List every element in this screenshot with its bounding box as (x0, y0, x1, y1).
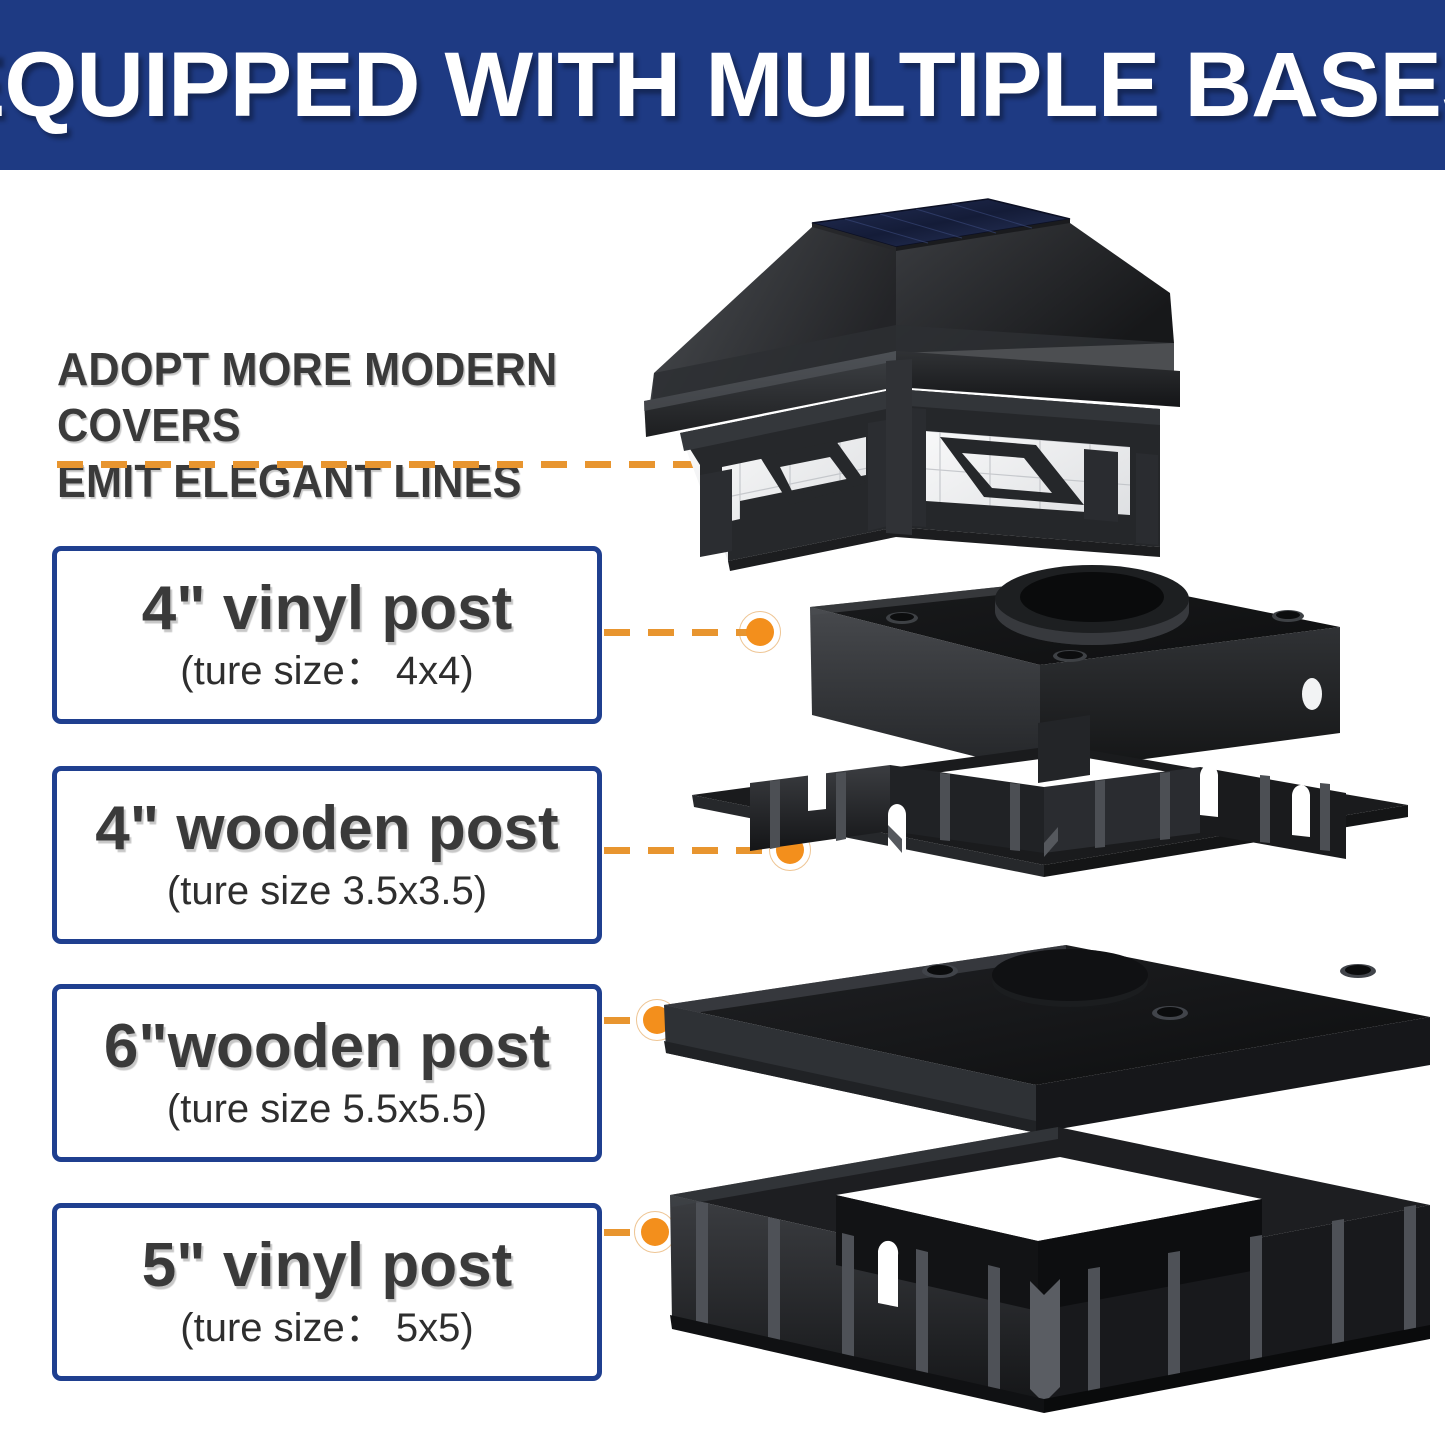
lattice-side-panels (680, 389, 1160, 571)
subtitle-block: ADOPT MORE MODERN COVERS EMIT ELEGANT LI… (57, 341, 659, 509)
adapter-collar (995, 565, 1189, 645)
label-box-4in-wooden-post[interactable]: 4" wooden post (ture size 3.5x3.5) (52, 766, 602, 944)
subtitle-line-1: ADOPT MORE MODERN COVERS (57, 341, 659, 453)
label-box-6in-wooden-post[interactable]: 6"wooden post (ture size 5.5x5.5) (52, 984, 602, 1162)
label-subtitle: (ture size 3.5x3.5) (167, 869, 487, 913)
wooden-6in-flat-plate (664, 945, 1430, 1133)
label-box-5in-vinyl-post[interactable]: 5" vinyl post (ture size： 5x5) (52, 1203, 602, 1381)
label-title: 6"wooden post (104, 1015, 550, 1078)
callout-dash-0 (57, 461, 725, 468)
label-subtitle: (ture size 5.5x5.5) (167, 1087, 487, 1131)
product-exploded-view (640, 175, 1445, 1432)
label-title: 5" vinyl post (142, 1234, 513, 1297)
solar-post-cap-lid (644, 199, 1180, 571)
label-title: 4" vinyl post (142, 577, 513, 640)
vinyl-5in-open-frame-base (670, 1127, 1430, 1413)
page-title: EQUIPPED WITH MULTIPLE BASES (0, 39, 1445, 131)
label-subtitle: (ture size： 5x5) (180, 1306, 473, 1350)
label-subtitle: (ture size： 4x4) (180, 649, 473, 693)
label-title: 4" wooden post (95, 797, 558, 860)
header-banner: EQUIPPED WITH MULTIPLE BASES (0, 0, 1445, 170)
wooden-4in-collar-base (692, 715, 1408, 877)
label-box-4in-vinyl-post[interactable]: 4" vinyl post (ture size： 4x4) (52, 546, 602, 724)
